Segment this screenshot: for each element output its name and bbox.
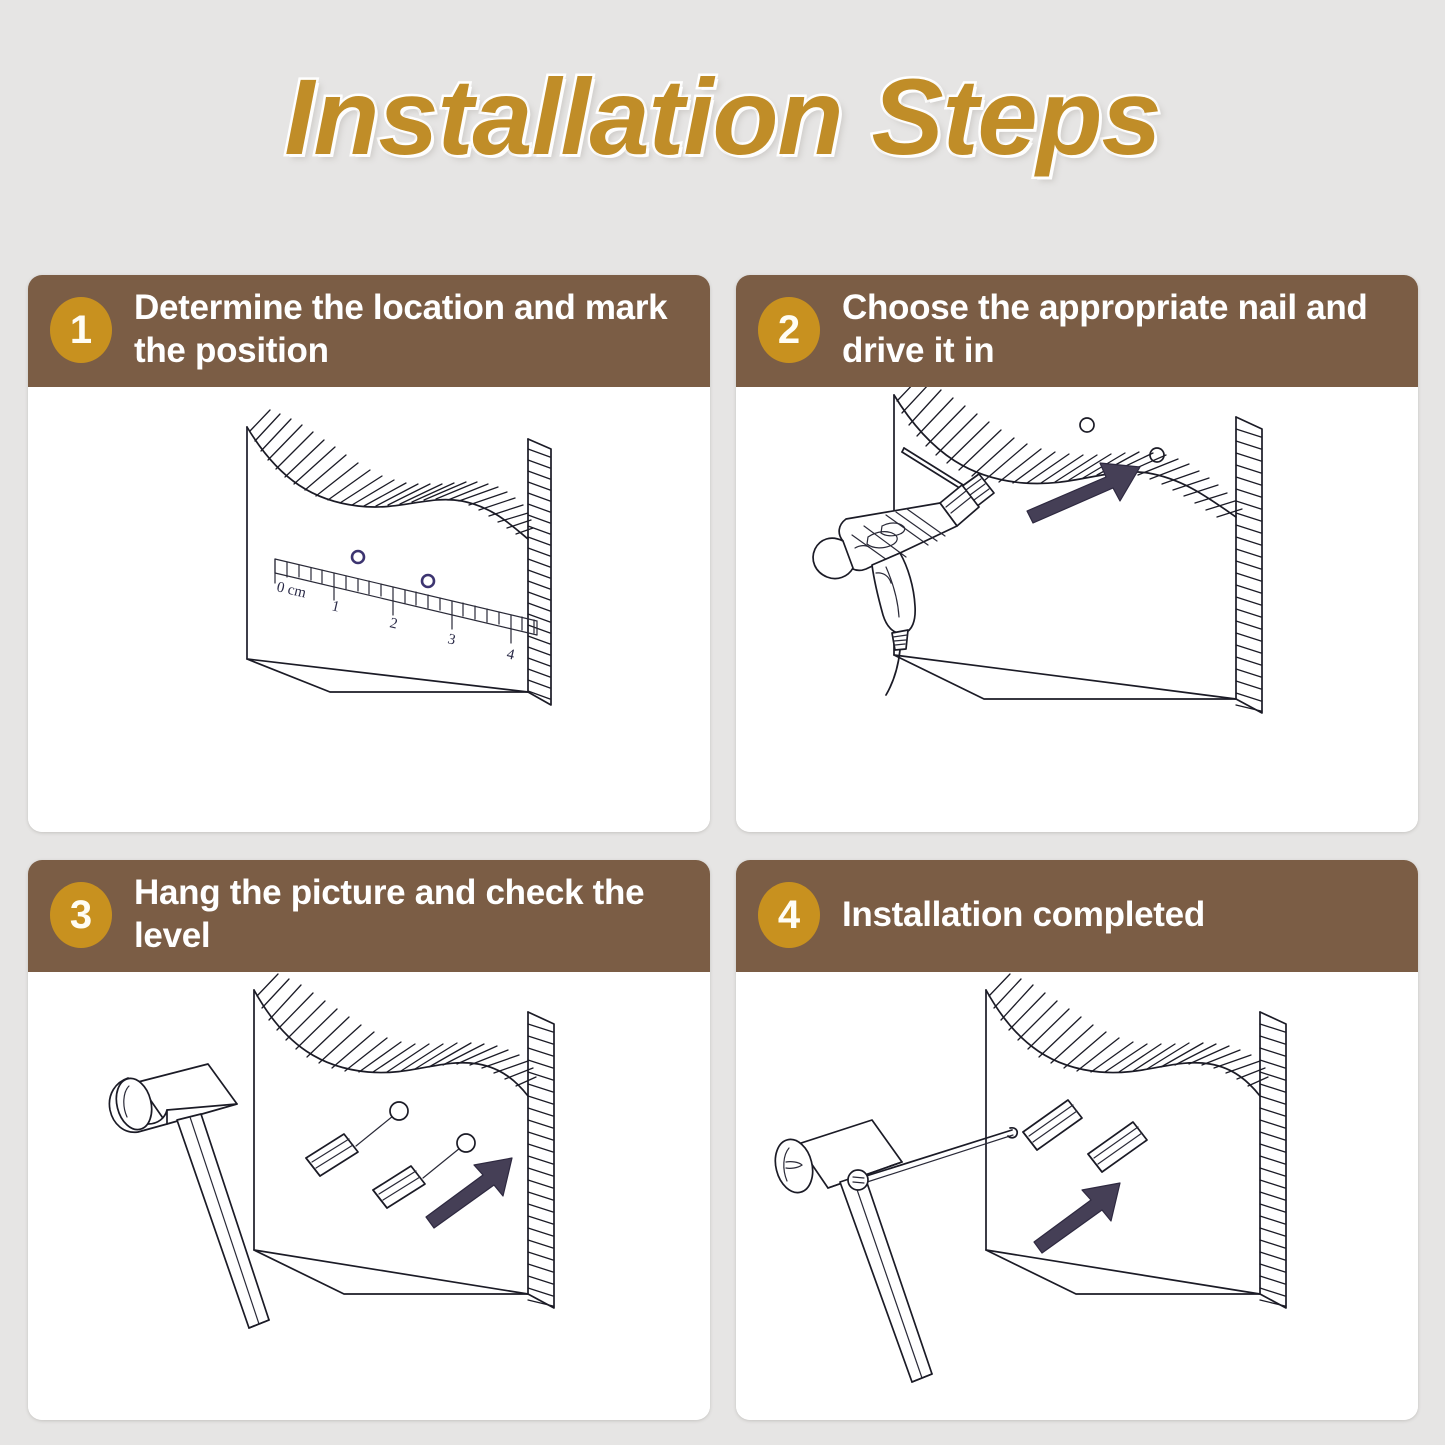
wall-edge-hatching xyxy=(528,449,550,699)
step-2-illustration xyxy=(736,387,1418,832)
step-card-4: 4 Installation completed xyxy=(736,860,1418,1420)
step-4-header: 4 Installation completed xyxy=(736,860,1418,972)
step-2-number-badge: 2 xyxy=(758,297,820,363)
direction-arrow xyxy=(426,1158,512,1228)
step-4-title: Installation completed xyxy=(842,894,1205,937)
step-3-number-badge: 3 xyxy=(50,882,112,948)
step-1-illustration: 0 cm 1 2 3 4 xyxy=(28,387,710,832)
wall-shape xyxy=(894,387,1262,713)
ruler-label-4: 4 xyxy=(505,646,516,663)
step-4-illustration xyxy=(736,972,1418,1420)
step-card-2: 2 Choose the appropriate nail and drive … xyxy=(736,275,1418,832)
step-3-title: Hang the picture and check the level xyxy=(134,872,696,957)
installed-anchor-1 xyxy=(1023,1100,1082,1150)
drill-hole-mark-1 xyxy=(1080,418,1094,432)
step-1-header: 1 Determine the location and mark the po… xyxy=(28,275,710,387)
ruler-ticks xyxy=(275,559,534,643)
ruler: 0 cm 1 2 3 4 xyxy=(275,559,537,664)
ruler-label-2: 2 xyxy=(388,615,399,632)
mallet-anchors-diagram xyxy=(28,972,710,1420)
ruler-label-1: 1 xyxy=(330,598,341,615)
mallet-icon xyxy=(109,1064,269,1328)
wall-ruler-diagram: 0 cm 1 2 3 4 xyxy=(28,387,710,832)
drill-hole-mark-2 xyxy=(1150,448,1164,462)
drill-wall-diagram xyxy=(736,387,1418,832)
wall-break-hatching xyxy=(250,410,533,534)
page-title: Installation Steps xyxy=(284,63,1160,171)
step-2-header: 2 Choose the appropriate nail and drive … xyxy=(736,275,1418,387)
ruler-label-3: 3 xyxy=(446,631,457,648)
step-1-title: Determine the location and mark the posi… xyxy=(134,287,696,372)
wall-mark-2 xyxy=(422,575,434,587)
wall-edge-hatching xyxy=(528,1024,553,1306)
ruler-label-0: 0 cm xyxy=(275,579,308,601)
wall-edge-hatching xyxy=(1236,429,1261,711)
wall-shape xyxy=(254,974,554,1308)
step-3-header: 3 Hang the picture and check the level xyxy=(28,860,710,972)
mallet-icon xyxy=(770,1120,932,1382)
installed-anchor-2 xyxy=(1088,1122,1147,1172)
step-4-number-badge: 4 xyxy=(758,882,820,948)
wall-edge-hatching xyxy=(1260,1024,1285,1306)
steps-grid: 1 Determine the location and mark the po… xyxy=(28,275,1418,1420)
completed-install-diagram xyxy=(736,972,1418,1420)
step-3-illustration xyxy=(28,972,710,1420)
anchor-with-nail-1 xyxy=(306,1102,408,1176)
direction-arrow xyxy=(1034,1183,1120,1253)
step-card-1: 1 Determine the location and mark the po… xyxy=(28,275,710,832)
wall-mark-1 xyxy=(352,551,364,563)
step-card-3: 3 Hang the picture and check the level xyxy=(28,860,710,1420)
step-1-number-badge: 1 xyxy=(50,297,112,363)
page-title-area: Installation Steps xyxy=(0,52,1445,182)
electric-drill-icon xyxy=(813,448,994,695)
step-2-title: Choose the appropriate nail and drive it… xyxy=(842,287,1404,372)
